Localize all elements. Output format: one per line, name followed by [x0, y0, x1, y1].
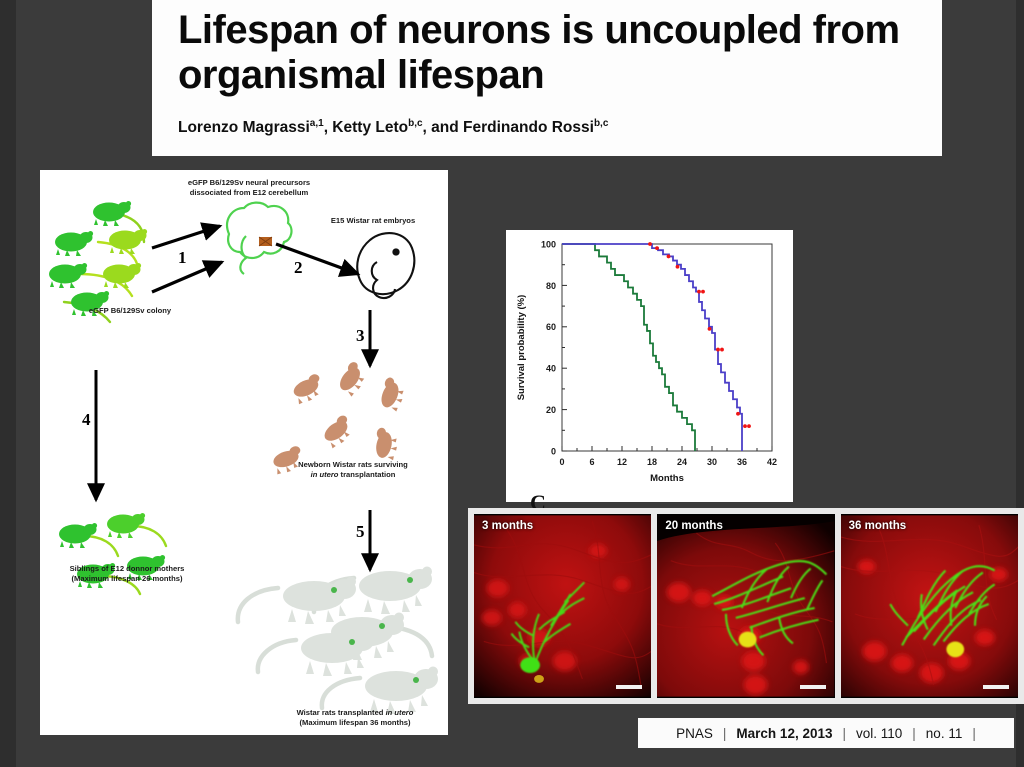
- label-e15-wistar-embryos: E15 Wistar rat embryos: [298, 216, 448, 226]
- svg-text:6: 6: [589, 457, 594, 467]
- title-line-1: Lifespan of neurons is uncoupled from: [178, 8, 900, 52]
- micrograph-20-months: 20 months: [657, 514, 834, 698]
- step-number-1: 1: [178, 248, 187, 268]
- micrograph-label-3-months: 3 months: [482, 520, 533, 532]
- label-pups-line-2-rest: transplantation: [338, 470, 395, 479]
- label-transplanted-rats: Wistar rats transplanted in utero (Maxim…: [262, 708, 448, 729]
- page-title: Lifespan of neurons is uncoupled from or…: [178, 8, 916, 98]
- label-newborn-pups: Newborn Wistar rats surviving in utero t…: [268, 460, 438, 481]
- egfp-mouse-colony-graphic: [49, 201, 147, 322]
- micrograph-20-months-image: [657, 514, 834, 698]
- micrograph-36-months-image: [841, 514, 1018, 698]
- svg-text:0: 0: [559, 457, 564, 467]
- footer-sep-4: |: [972, 726, 976, 741]
- micrograph-label-20-months: 20 months: [665, 520, 723, 532]
- label-transplanted-prefix: Wistar rats transplanted: [297, 708, 386, 717]
- cerebellum-graphic: [227, 203, 291, 274]
- svg-text:12: 12: [617, 457, 627, 467]
- micrograph-36-months: 36 months: [841, 514, 1018, 698]
- left-edge-bar: [0, 0, 16, 767]
- svg-text:42: 42: [767, 457, 777, 467]
- footer-journal: PNAS: [676, 726, 713, 741]
- experimental-schematic-panel: eGFP B6/129Sv neural precursors dissocia…: [40, 170, 448, 735]
- label-siblings-line-1: Siblings of E12 donnor mothers: [70, 564, 185, 573]
- micrograph-3-months: 3 months: [474, 514, 651, 698]
- svg-text:30: 30: [707, 457, 717, 467]
- title-card: Lifespan of neurons is uncoupled from or…: [152, 0, 942, 156]
- step-number-5: 5: [356, 522, 365, 542]
- svg-text:0: 0: [551, 446, 556, 456]
- label-siblings: Siblings of E12 donnor mothers (Maximum …: [32, 564, 222, 585]
- kaplan-meier-survival-chart: 06121824303642020406080100MonthsSurvival…: [506, 230, 793, 502]
- footer-date: March 12, 2013: [736, 726, 832, 741]
- label-siblings-line-2: (Maximum lifespan 26 months): [72, 574, 183, 583]
- author-list: Lorenzo Magrassia,1, Ketty Letob,c, and …: [178, 118, 916, 137]
- rat-embryo-graphic: [357, 233, 414, 298]
- journal-footer: PNAS | March 12, 2013 | vol. 110 | no. 1…: [638, 718, 1014, 748]
- slide: Lifespan of neurons is uncoupled from or…: [0, 0, 1024, 767]
- svg-text:100: 100: [541, 239, 556, 249]
- label-egfp-colony: eGFP B6/129Sv colony: [40, 306, 220, 316]
- survival-chart-card: 06121824303642020406080100MonthsSurvival…: [506, 230, 793, 502]
- label-pups-in-utero: in utero: [311, 470, 339, 479]
- svg-text:Survival probability (%): Survival probability (%): [516, 295, 527, 401]
- panel-letter-c: C: [530, 490, 546, 508]
- arrow-step-2: [276, 244, 358, 274]
- micrograph-3-months-image: [474, 514, 651, 698]
- title-line-2: organismal lifespan: [178, 53, 544, 97]
- author-magrassi: Lorenzo Magrassi: [178, 119, 310, 136]
- footer-sep-2: |: [842, 726, 846, 741]
- label-neural-precursors: eGFP B6/129Sv neural precursors dissocia…: [144, 178, 354, 199]
- scale-bar-3-months: [616, 685, 642, 689]
- svg-text:36: 36: [737, 457, 747, 467]
- svg-text:24: 24: [677, 457, 687, 467]
- author-sep-2: , and Ferdinando Rossi: [423, 119, 594, 136]
- footer-volume: vol. 110: [856, 726, 902, 741]
- label-precursors-line-1: eGFP B6/129Sv neural precursors: [188, 178, 310, 187]
- label-pups-line-1: Newborn Wistar rats surviving: [298, 460, 408, 469]
- footer-issue: no. 11: [926, 726, 963, 741]
- newborn-wistar-pups-graphic: [271, 360, 409, 475]
- label-transplanted-line-2: (Maximum lifespan 36 months): [300, 718, 411, 727]
- svg-text:Months: Months: [650, 473, 684, 484]
- footer-sep-1: |: [723, 726, 727, 741]
- micrograph-label-36-months: 36 months: [849, 520, 907, 532]
- arrow-step-1: [152, 226, 222, 292]
- svg-text:80: 80: [546, 281, 556, 291]
- scale-bar-20-months: [800, 685, 826, 689]
- footer-sep-3: |: [912, 726, 916, 741]
- svg-text:18: 18: [647, 457, 657, 467]
- scale-bar-36-months: [983, 685, 1009, 689]
- author-rossi-affil: b,c: [594, 118, 608, 129]
- step-number-4: 4: [82, 410, 91, 430]
- author-leto-affil: b,c: [408, 118, 422, 129]
- svg-text:20: 20: [546, 405, 556, 415]
- schematic-graphics: [40, 170, 448, 735]
- author-magrassi-affil: a,1: [310, 118, 324, 129]
- step-number-2: 2: [294, 258, 303, 278]
- author-sep-1: , Ketty Leto: [324, 119, 408, 136]
- label-precursors-line-2: dissociated from E12 cerebellum: [190, 188, 309, 197]
- micrograph-panel-row: 3 months: [468, 508, 1024, 704]
- label-transplanted-in-utero: in utero: [386, 708, 414, 717]
- svg-text:40: 40: [546, 364, 556, 374]
- transplanted-wistar-rats-graphic: [238, 567, 438, 715]
- svg-text:60: 60: [546, 322, 556, 332]
- step-number-3: 3: [356, 326, 365, 346]
